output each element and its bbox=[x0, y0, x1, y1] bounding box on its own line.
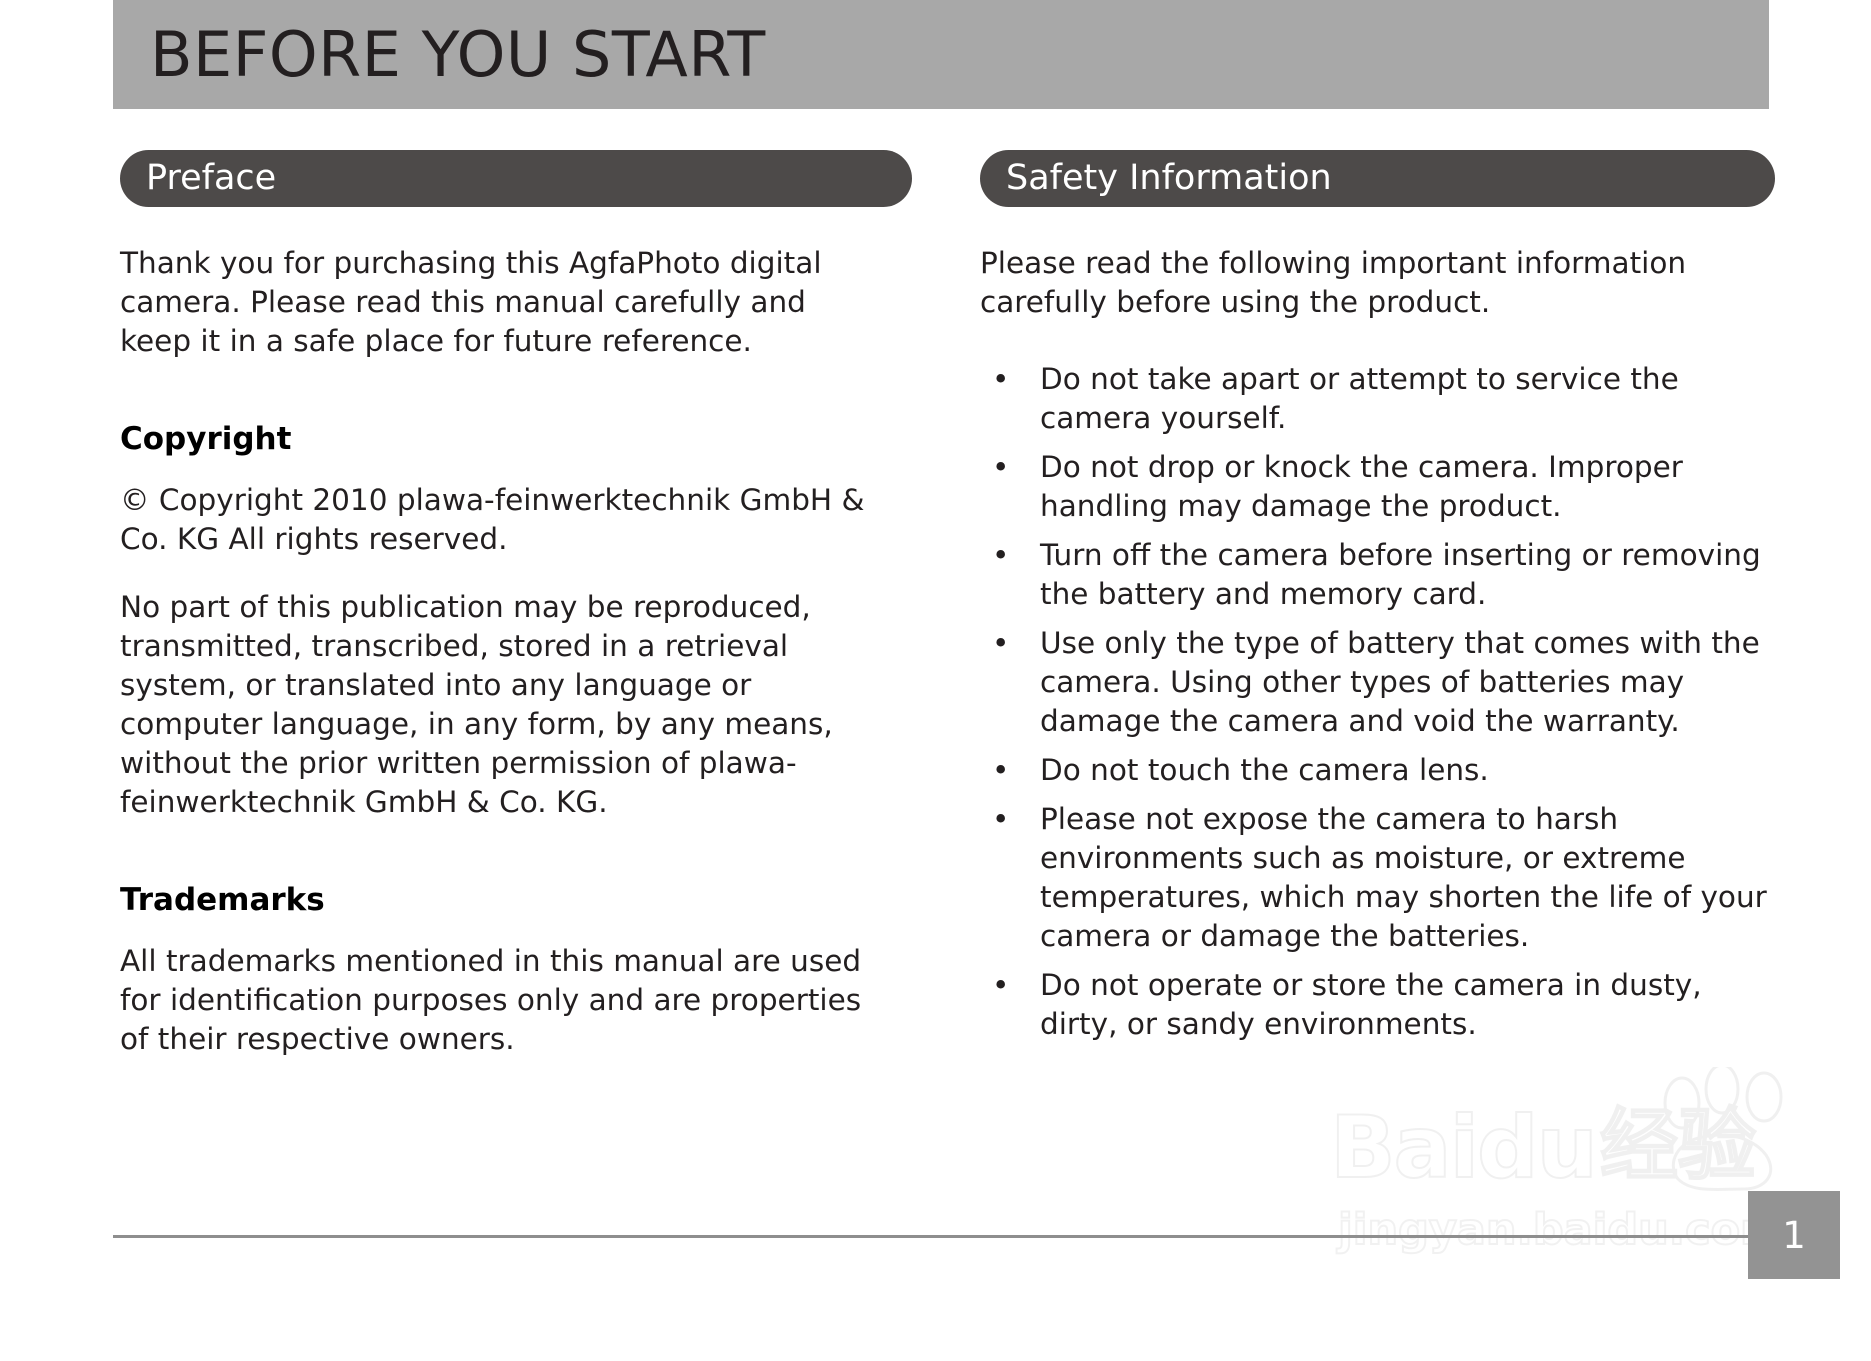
bullet-icon: • bbox=[992, 800, 1009, 839]
copyright-heading: Copyright bbox=[120, 424, 898, 455]
list-item-text: Do not drop or knock the camera. Imprope… bbox=[1040, 450, 1683, 523]
copyright-paragraph-2: No part of this publication may be repro… bbox=[120, 588, 880, 822]
footer-divider bbox=[113, 1235, 1769, 1238]
watermark-brand-cn: 经验 bbox=[1600, 1107, 1756, 1185]
bullet-icon: • bbox=[992, 536, 1009, 575]
trademarks-paragraph: All trademarks mentioned in this manual … bbox=[120, 942, 880, 1059]
safety-intro-paragraph: Please read the following important info… bbox=[980, 244, 1770, 322]
page-banner: BEFORE YOU START bbox=[113, 0, 1769, 109]
bullet-icon: • bbox=[992, 448, 1009, 487]
section-header-safety-information-label: Safety Information bbox=[1006, 161, 1332, 196]
trademarks-heading: Trademarks bbox=[120, 885, 898, 916]
list-item-text: Do not touch the camera lens. bbox=[1040, 753, 1489, 787]
list-item: • Use only the type of battery that come… bbox=[980, 624, 1770, 741]
list-item: • Turn off the camera before inserting o… bbox=[980, 536, 1770, 614]
section-header-preface: Preface bbox=[120, 150, 912, 207]
list-item: • Do not touch the camera lens. bbox=[980, 751, 1770, 790]
page-number-badge: 1 bbox=[1748, 1191, 1840, 1279]
watermark-brand: Baidu bbox=[1330, 1105, 1596, 1191]
list-item-text: Do not operate or store the camera in du… bbox=[1040, 968, 1702, 1041]
preface-column: Preface Thank you for purchasing this Ag… bbox=[120, 150, 898, 1059]
list-item-text: Turn off the camera before inserting or … bbox=[1040, 538, 1761, 611]
list-item: • Please not expose the camera to harsh … bbox=[980, 800, 1770, 956]
bullet-icon: • bbox=[992, 751, 1009, 790]
bullet-icon: • bbox=[992, 966, 1009, 1005]
paw-print-icon bbox=[1648, 1067, 1808, 1197]
list-item-text: Please not expose the camera to harsh en… bbox=[1040, 802, 1767, 953]
section-header-safety-information: Safety Information bbox=[980, 150, 1775, 207]
page-title: BEFORE YOU START bbox=[113, 24, 766, 86]
watermark-url: jingyan.baidu.com bbox=[1338, 1209, 1785, 1252]
list-item: • Do not take apart or attempt to servic… bbox=[980, 360, 1770, 438]
page-number: 1 bbox=[1782, 1217, 1806, 1254]
bullet-icon: • bbox=[992, 360, 1009, 399]
preface-intro-paragraph: Thank you for purchasing this AgfaPhoto … bbox=[120, 244, 880, 361]
baidu-watermark: Baidu 经验 jingyan.baidu.com bbox=[1330, 1105, 1770, 1290]
list-item-text: Use only the type of battery that comes … bbox=[1040, 626, 1760, 738]
safety-information-column: Safety Information Please read the follo… bbox=[980, 150, 1770, 1054]
list-item: • Do not drop or knock the camera. Impro… bbox=[980, 448, 1770, 526]
bullet-icon: • bbox=[992, 624, 1009, 663]
document-page: BEFORE YOU START Preface Thank you for p… bbox=[0, 0, 1871, 1361]
section-header-preface-label: Preface bbox=[146, 161, 276, 196]
copyright-paragraph-1: © Copyright 2010 plawa-feinwerktechnik G… bbox=[120, 481, 880, 559]
list-item-text: Do not take apart or attempt to service … bbox=[1040, 362, 1679, 435]
safety-bullet-list: • Do not take apart or attempt to servic… bbox=[980, 360, 1770, 1044]
list-item: • Do not operate or store the camera in … bbox=[980, 966, 1770, 1044]
